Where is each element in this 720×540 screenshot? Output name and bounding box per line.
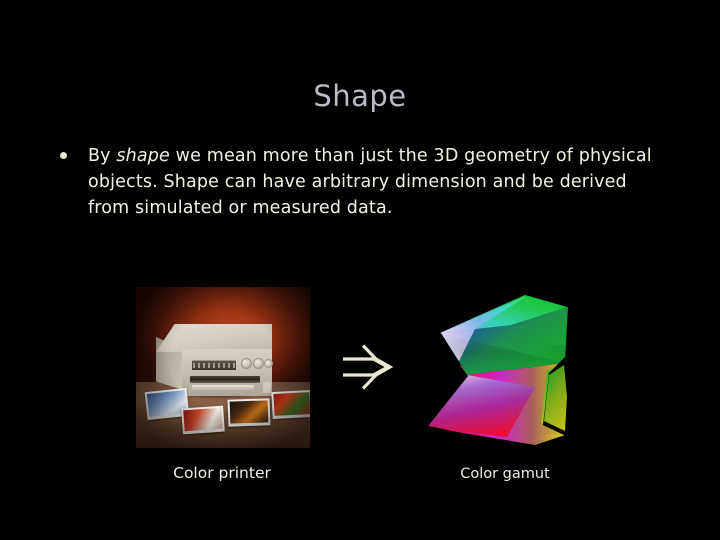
bullet-text-emphasis: shape xyxy=(116,146,170,166)
bullet-text: By shape we mean more than just the 3D g… xyxy=(88,146,652,218)
list-item: By shape we mean more than just the 3D g… xyxy=(56,143,664,221)
caption-color-printer: Color printer xyxy=(122,463,322,483)
figure-group xyxy=(0,280,720,500)
bullet-text-lead: By xyxy=(88,146,116,166)
slide-canvas: Shape By shape we mean more than just th… xyxy=(0,0,720,540)
printer-display-text xyxy=(193,363,235,368)
color-printer-photo xyxy=(136,287,310,448)
double-right-arrow-icon xyxy=(340,342,400,392)
bullet-dot-icon xyxy=(60,152,67,159)
bullet-text-rest: we mean more than just the 3D geometry o… xyxy=(88,146,652,218)
bullet-list: By shape we mean more than just the 3D g… xyxy=(56,143,664,221)
printer-button-3 xyxy=(264,359,273,368)
caption-color-gamut: Color gamut xyxy=(405,464,605,484)
printed-photo-3 xyxy=(228,398,271,426)
printer-button-1 xyxy=(241,358,252,369)
printer-top-panel xyxy=(156,324,272,352)
color-gamut-3d-surface xyxy=(415,285,585,450)
page-title: Shape xyxy=(0,78,720,114)
printer-button-2 xyxy=(253,358,264,369)
printer-output-slot xyxy=(190,376,260,383)
printed-photo-4 xyxy=(271,390,310,419)
printer-side-foot xyxy=(263,382,271,393)
printed-photo-2 xyxy=(181,406,225,435)
printer-output-lip xyxy=(192,385,254,390)
printer-display-panel xyxy=(192,360,236,370)
